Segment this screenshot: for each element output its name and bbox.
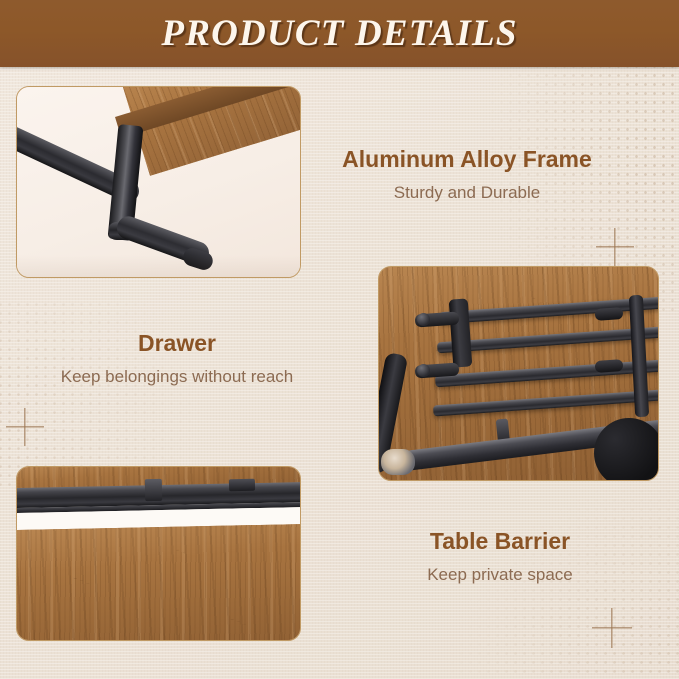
page-title: PRODUCT DETAILS (161, 12, 517, 55)
feature-image-drawer (378, 266, 659, 481)
feature-text-aluminum-alloy-frame: Aluminum Alloy Frame Sturdy and Durable (312, 146, 622, 203)
barrier-tabletop-surface (17, 524, 300, 640)
barrier-clip-right (229, 479, 255, 492)
feature-image-aluminum-alloy-frame (16, 86, 301, 278)
feature-heading-table-barrier: Table Barrier (350, 528, 650, 556)
image-clip-barrier (17, 467, 300, 640)
drawer-knob-bottom (417, 364, 430, 377)
feature-image-table-barrier (16, 466, 301, 641)
feature-heading-drawer: Drawer (22, 330, 332, 358)
feature-text-table-barrier: Table Barrier Keep private space (350, 528, 650, 585)
drawer-slot-bottom (595, 359, 624, 373)
drawer-corner-shadow (594, 418, 658, 480)
drawer-knob-top (417, 313, 430, 326)
image-clip-frame (17, 87, 300, 277)
halftone-dots-mid-left (0, 300, 210, 490)
feature-text-drawer: Drawer Keep belongings without reach (22, 330, 332, 387)
drawer-slot-top (595, 307, 624, 321)
feature-heading-aluminum-alloy-frame: Aluminum Alloy Frame (312, 146, 622, 174)
wood-grain-rings-barrier (17, 524, 300, 640)
floor-shadow (17, 255, 300, 277)
feature-subtext-drawer: Keep belongings without reach (22, 367, 332, 387)
image-clip-drawer (379, 267, 658, 480)
drawer-pivot-joint (381, 449, 415, 475)
product-details-infographic: PRODUCT DETAILS Aluminum Alloy Frame Stu… (0, 0, 679, 679)
feature-subtext-aluminum-alloy-frame: Sturdy and Durable (312, 183, 622, 203)
feature-subtext-table-barrier: Keep private space (350, 565, 650, 585)
barrier-clip-left (145, 479, 162, 501)
header-banner: PRODUCT DETAILS (0, 0, 679, 67)
